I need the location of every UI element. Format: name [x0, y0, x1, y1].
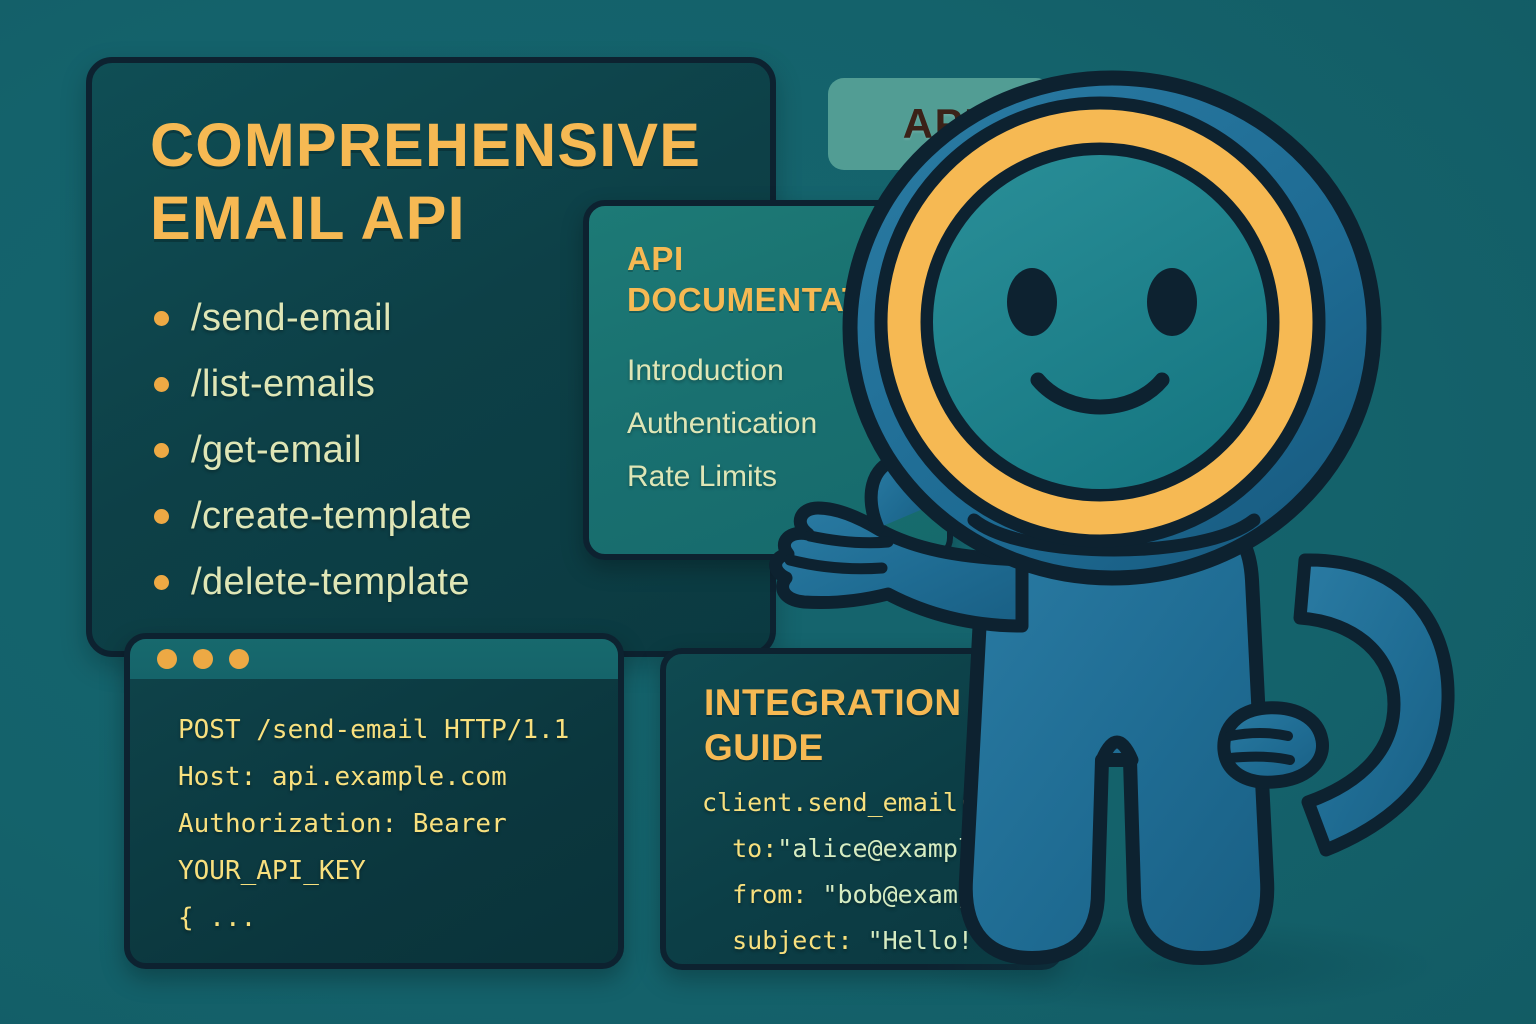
- endpoint-label: /send-email: [191, 297, 392, 340]
- bullet-icon: [154, 575, 169, 590]
- bullet-icon: [154, 443, 169, 458]
- endpoint-label: /delete-template: [191, 561, 470, 604]
- mascot-knuckle-2: [1230, 757, 1290, 760]
- illustration-canvas: Comprehensive Email API /send-email /lis…: [0, 0, 1536, 1024]
- terminal-window: POST /send-email HTTP/1.1 Host: api.exam…: [124, 633, 624, 969]
- terminal-body: POST /send-email HTTP/1.1 Host: api.exam…: [130, 679, 618, 963]
- window-maximize-dot-icon[interactable]: [229, 649, 249, 669]
- mascot-face: [933, 155, 1267, 489]
- endpoint-label: /list-emails: [191, 363, 375, 406]
- terminal-line: Authorization: Bearer: [178, 801, 618, 848]
- terminal-line: POST /send-email HTTP/1.1: [178, 707, 618, 754]
- mascot-right-arm: [1300, 560, 1448, 850]
- terminal-title-bar: [130, 639, 618, 679]
- terminal-line: Host: api.example.com: [178, 754, 618, 801]
- bullet-icon: [154, 377, 169, 392]
- window-minimize-dot-icon[interactable]: [193, 649, 213, 669]
- mascot-knuckle-1: [1230, 733, 1288, 736]
- terminal-line: { ...: [178, 895, 618, 942]
- mascot-left-eye: [1007, 268, 1057, 336]
- hooded-robot-mascot: [760, 60, 1520, 1024]
- endpoint-label: /create-template: [191, 495, 472, 538]
- bullet-icon: [154, 311, 169, 326]
- bullet-icon: [154, 509, 169, 524]
- endpoint-label: /get-email: [191, 429, 362, 472]
- mascot-right-hand: [1224, 708, 1323, 782]
- window-close-dot-icon[interactable]: [157, 649, 177, 669]
- mascot-right-eye: [1147, 268, 1197, 336]
- terminal-line: YOUR_API_KEY: [178, 848, 618, 895]
